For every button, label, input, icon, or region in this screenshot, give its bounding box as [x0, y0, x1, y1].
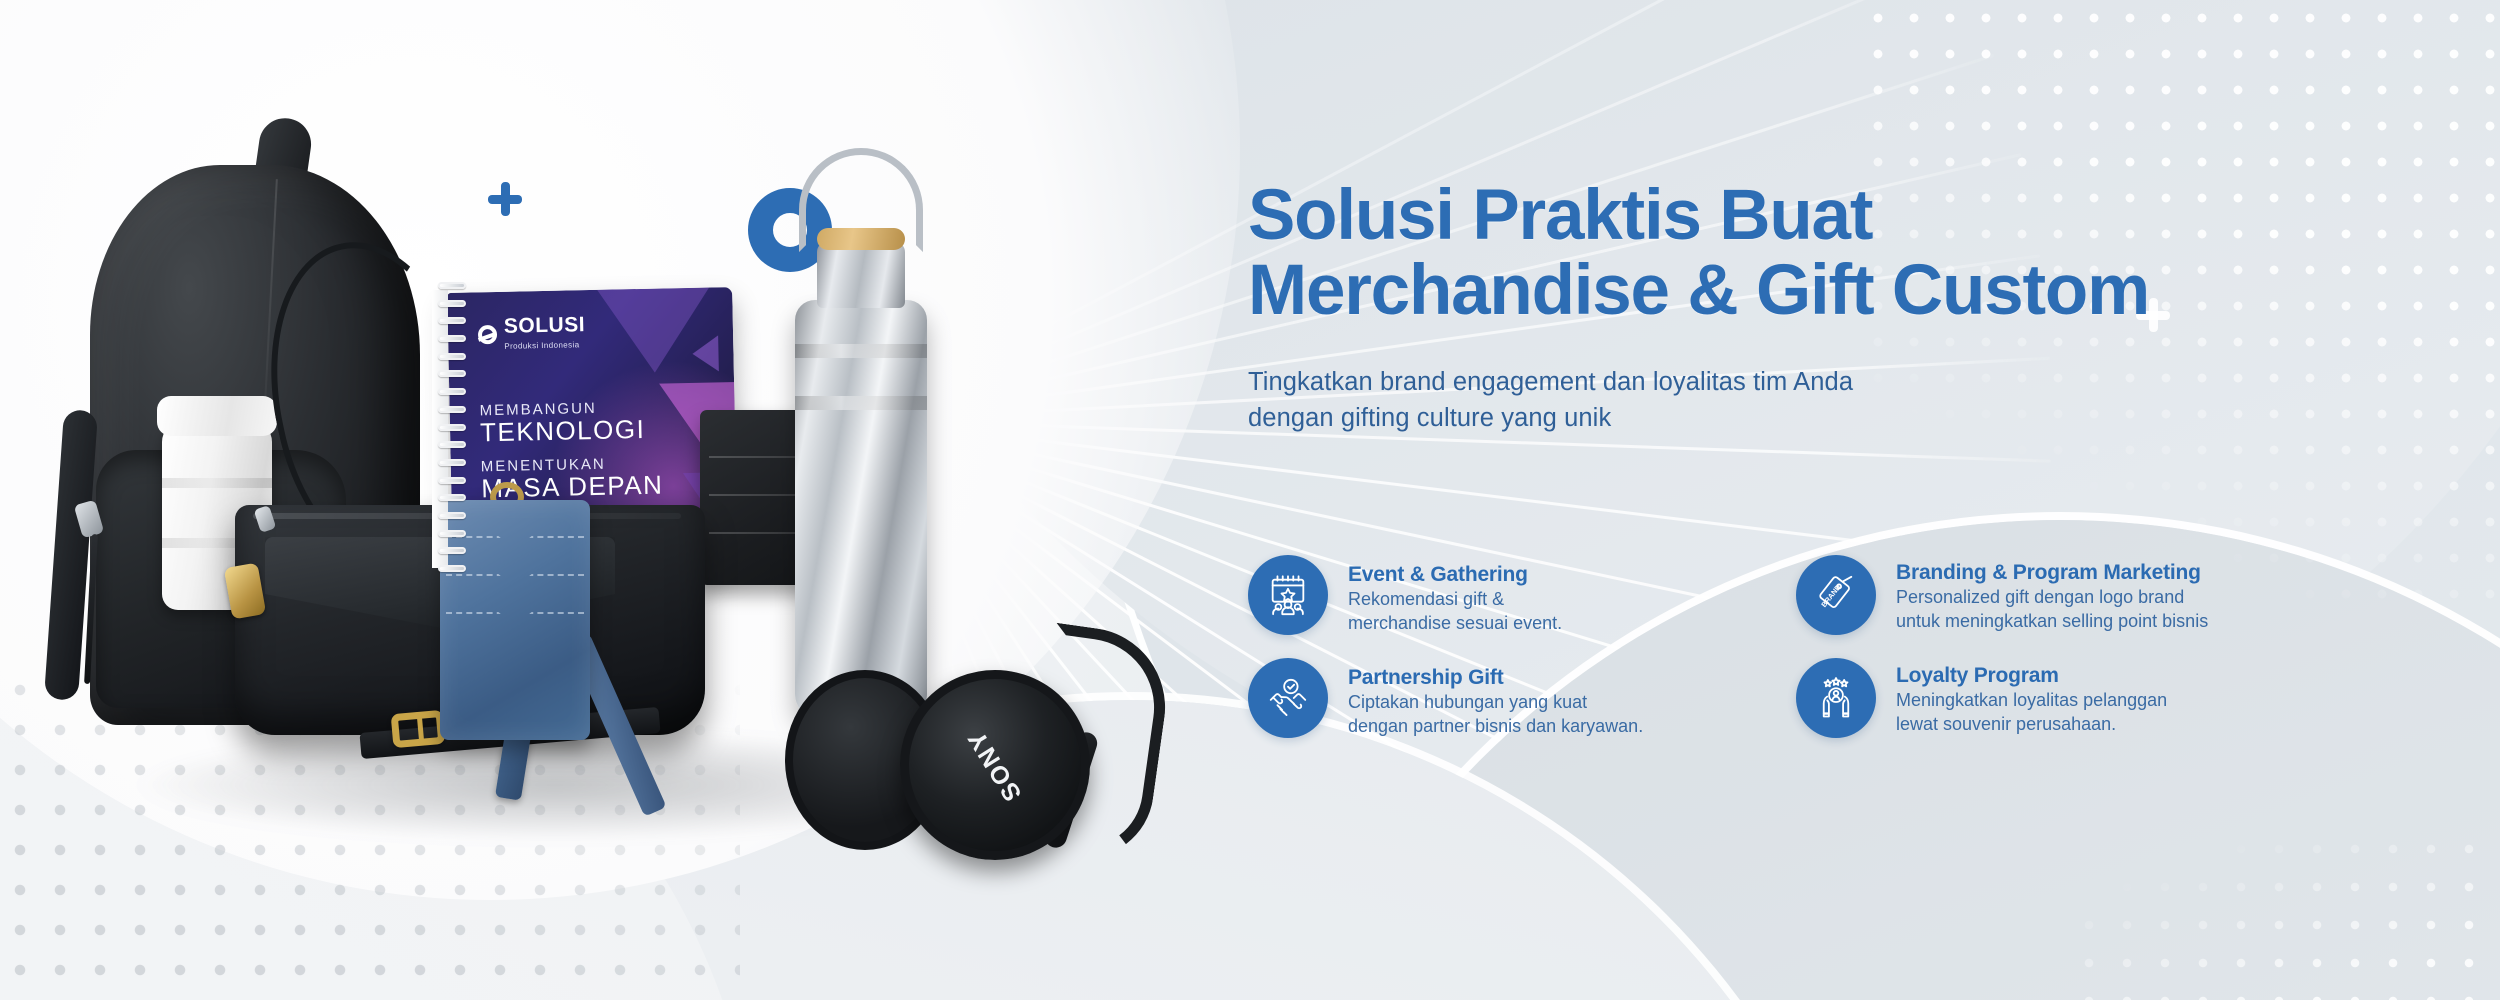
hero-text-block: Solusi Praktis Buat Merchandise & Gift C… — [1248, 178, 2428, 436]
sling-bag-gold-buckle — [391, 710, 446, 748]
tumbler-cap — [157, 396, 277, 436]
tumbler-ring-1 — [162, 478, 272, 488]
feature-description: Ciptakan hubungan yang kuat dengan partn… — [1348, 691, 1643, 739]
notebook-copy-large-1: TEKNOLOGI — [480, 416, 663, 447]
subtitle-line-1: Tingkatkan brand engagement dan loyalita… — [1248, 364, 2428, 400]
feature-title: Branding & Program Marketing — [1896, 561, 2201, 584]
dot-grid-bottom-right — [2070, 830, 2500, 1000]
headline-line-2: Merchandise & Gift Custom — [1248, 253, 2428, 328]
brand-tag-icon: BRAND — [1796, 555, 1876, 635]
notebook-logo: SOLUSI Produksi Indonesia — [478, 314, 586, 353]
feature-description: Rekomendasi gift & merchandise sesuai ev… — [1348, 588, 1562, 636]
feature-title: Event & Gathering — [1348, 563, 1528, 586]
bottle-band-2 — [795, 396, 927, 410]
card-slot-2 — [446, 574, 584, 608]
feature-item-loyalty-program[interactable]: Loyalty Program Meningkatkan loyalitas p… — [1796, 658, 2316, 739]
solusi-logo-mark-icon — [478, 325, 497, 344]
feature-title: Partnership Gift — [1348, 666, 1504, 689]
feature-item-partnership-gift[interactable]: Partnership Gift Ciptakan hubungan yang … — [1248, 658, 1768, 739]
notebook-logo-name: SOLUSI — [504, 313, 586, 338]
feature-title: Loyalty Program — [1896, 664, 2059, 687]
notebook-spiral-binding — [438, 282, 466, 572]
feature-item-branding-marketing[interactable]: BRAND Branding & Program Marketing Perso… — [1796, 555, 2316, 636]
sony-logo: SONY — [962, 724, 1028, 806]
bottle-neck — [817, 242, 905, 308]
hands-holding-person-stars-icon — [1796, 658, 1876, 738]
product-photo-composition: SOLUSI Produksi Indonesia MEMBANGUN TEKN… — [60, 110, 1120, 840]
notebook-logo-tagline: Produksi Indonesia — [504, 340, 579, 351]
stainless-steel-bottle — [795, 300, 927, 720]
page-subtitle: Tingkatkan brand engagement dan loyalita… — [1248, 364, 2428, 436]
notebook-triangle-4 — [692, 335, 719, 372]
subtitle-line-2: dengan gifting culture yang unik — [1248, 400, 2428, 436]
sling-bag-zipper-pull — [254, 505, 277, 533]
card-slot-1 — [446, 536, 584, 570]
sony-headphones: SONY — [900, 670, 1090, 860]
headline-line-1: Solusi Praktis Buat — [1248, 176, 1872, 255]
page-title: Solusi Praktis Buat Merchandise & Gift C… — [1248, 178, 2428, 329]
feature-list: Event & Gathering Rekomendasi gift & mer… — [1248, 555, 2448, 739]
feature-item-event-gathering[interactable]: Event & Gathering Rekomendasi gift & mer… — [1248, 555, 1768, 636]
feature-description: Personalized gift dengan logo brand untu… — [1896, 586, 2208, 634]
hero-banner: SOLUSI Produksi Indonesia MEMBANGUN TEKN… — [0, 0, 2500, 1000]
feature-description: Meningkatkan loyalitas pelanggan lewat s… — [1896, 689, 2167, 737]
calendar-star-people-icon — [1248, 555, 1328, 635]
card-slot-3 — [446, 612, 584, 646]
handshake-check-icon — [1248, 658, 1328, 738]
bottle-band-1 — [795, 344, 927, 358]
bottle-bamboo-lid — [817, 228, 905, 250]
